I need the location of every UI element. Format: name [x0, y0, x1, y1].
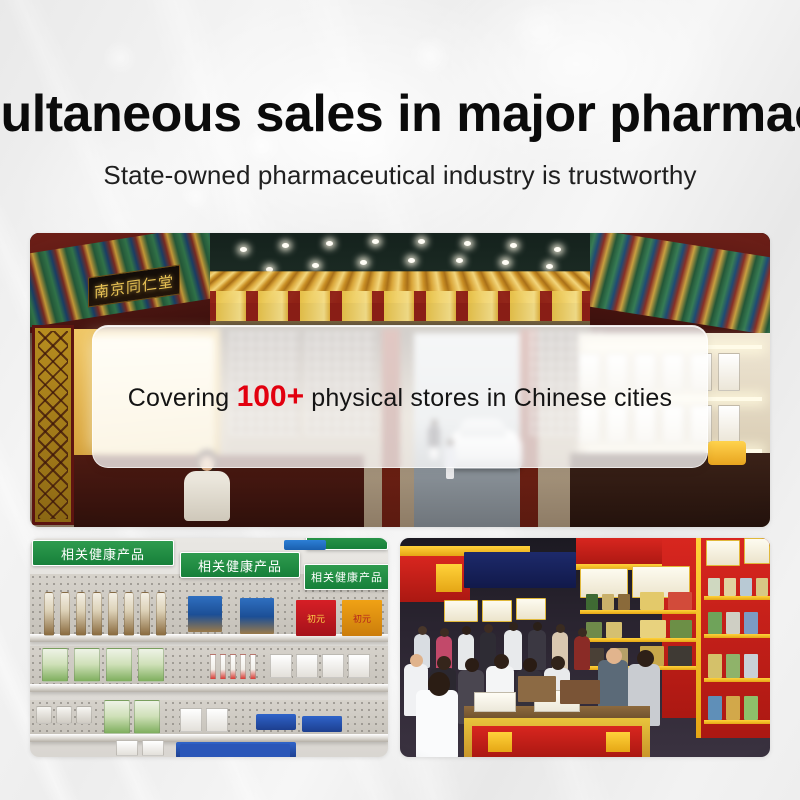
tube-product [230, 654, 236, 680]
green-product-bag [134, 700, 160, 734]
bottled-product [44, 592, 54, 636]
shelf-sign: 相关健康产品 [304, 564, 388, 590]
white-product-box [180, 708, 202, 732]
bottled-product [108, 592, 118, 636]
shelf-board [30, 734, 388, 742]
bottled-product [140, 592, 150, 636]
canned-product [36, 706, 52, 724]
blue-pack [256, 714, 296, 730]
bottled-product [76, 592, 86, 636]
tube-product [250, 654, 256, 680]
booth-vignette [400, 538, 770, 757]
white-product-box [348, 654, 370, 678]
canned-product [76, 706, 92, 724]
page-subtitle: State-owned pharmaceutical industry is t… [103, 160, 696, 191]
page-title: Simultaneous sales in major pharmacies [0, 86, 800, 143]
orange-product-box: 初元 [342, 600, 382, 636]
tube-product [240, 654, 246, 680]
white-product-box [142, 740, 164, 756]
canned-product [56, 706, 72, 724]
stats-suffix: physical stores in Chinese cities [304, 384, 672, 412]
white-product-box [270, 654, 292, 678]
promo-page: Simultaneous sales in major pharmacies S… [0, 0, 800, 800]
white-product-box [322, 654, 344, 678]
bottled-product [60, 592, 70, 636]
stats-prefix: Covering [128, 384, 237, 412]
green-product-bag [42, 648, 68, 682]
shelf-sign: 相关健康产品 [180, 552, 300, 578]
tube-product [210, 654, 216, 680]
hero-image: 南京同仁堂 [30, 233, 770, 527]
bottled-product [156, 592, 166, 636]
green-product-bag [74, 648, 100, 682]
green-product-bag [106, 648, 132, 682]
shelf-board [30, 684, 388, 692]
green-product-bag [138, 648, 164, 682]
exhibition-booth-image [400, 538, 770, 757]
bottled-product [92, 592, 102, 636]
green-product-bag [104, 700, 130, 734]
white-product-box [206, 708, 228, 732]
booth-photo-canvas [400, 538, 770, 757]
white-product-box [116, 740, 138, 756]
stats-overlay-card: Covering 100+ physical stores in Chinese… [92, 325, 708, 468]
blue-product-box [188, 596, 222, 632]
stats-overlay-text: Covering 100+ physical stores in Chinese… [128, 380, 672, 414]
blue-pack [302, 716, 342, 732]
shelf-sign: 相关健康产品 [32, 540, 174, 566]
blue-product-box [240, 598, 274, 634]
pharmacy-shelves-image: 相关健康产品 相关健康产品 相关健康产品 初元 初元 [30, 538, 388, 757]
red-product-box: 初元 [296, 600, 336, 636]
white-product-box [296, 654, 318, 678]
blue-pack [180, 744, 290, 757]
blue-price-tag [284, 540, 326, 550]
shelves-photo-canvas: 相关健康产品 相关健康产品 相关健康产品 初元 初元 [30, 538, 388, 757]
bottled-product [124, 592, 134, 636]
tube-product [220, 654, 226, 680]
stats-highlight-number: 100+ [237, 380, 305, 413]
